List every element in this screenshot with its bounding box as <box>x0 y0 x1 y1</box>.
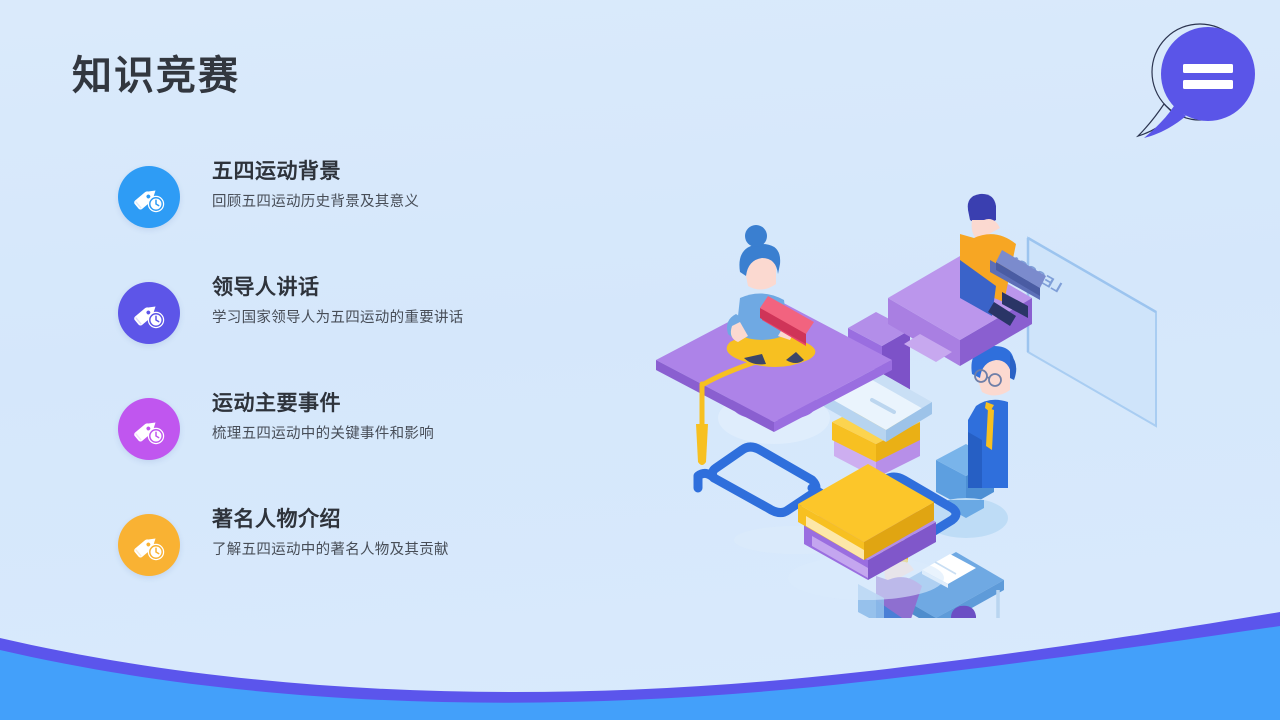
feature-list: 五四运动背景 回顾五四运动历史背景及其意义 领导人讲话 <box>118 158 638 622</box>
wave-fill <box>0 626 1280 720</box>
list-item[interactable]: 著名人物介绍 了解五四运动中的著名人物及其贡献 <box>118 506 638 622</box>
list-item-desc: 梳理五四运动中的关键事件和影响 <box>212 424 434 444</box>
slide-canvas: 知识竞赛 <box>0 0 1280 720</box>
list-item-desc: 回顾五四运动历史背景及其意义 <box>212 192 419 212</box>
list-item-title: 五四运动背景 <box>212 158 419 186</box>
list-item-text: 著名人物介绍 了解五四运动中的著名人物及其贡献 <box>212 506 449 561</box>
wave-accent-band <box>0 612 1280 720</box>
speech-bubble-menu-icon <box>1128 12 1280 144</box>
list-item-desc: 了解五四运动中的著名人物及其贡献 <box>212 540 449 560</box>
list-item-text: 五四运动背景 回顾五四运动历史背景及其意义 <box>212 158 419 213</box>
tag-clock-icon <box>118 282 180 344</box>
student-with-laptop <box>727 225 816 367</box>
list-item-title: 著名人物介绍 <box>212 506 449 534</box>
list-item[interactable]: 领导人讲话 学习国家领导人为五四运动的重要讲话 <box>118 274 638 390</box>
list-item[interactable]: 五四运动背景 回顾五四运动历史背景及其意义 <box>118 158 638 274</box>
list-item[interactable]: 运动主要事件 梳理五四运动中的关键事件和影响 <box>118 390 638 506</box>
list-item-text: 领导人讲话 学习国家领导人为五四运动的重要讲话 <box>212 274 464 329</box>
list-item-title: 领导人讲话 <box>212 274 464 302</box>
page-title: 知识竞赛 <box>72 52 240 100</box>
list-item-text: 运动主要事件 梳理五四运动中的关键事件和影响 <box>212 390 434 445</box>
list-item-desc: 学习国家领导人为五四运动的重要讲话 <box>212 308 464 328</box>
tag-clock-icon <box>118 514 180 576</box>
list-item-title: 运动主要事件 <box>212 390 434 418</box>
teacher-figure <box>924 346 1016 538</box>
tag-clock-icon <box>118 166 180 228</box>
man-on-book <box>888 194 1046 366</box>
tag-clock-icon <box>118 398 180 460</box>
speech-bubble-badge[interactable] <box>1128 12 1280 144</box>
education-illustration: LESSON <box>636 188 1256 618</box>
